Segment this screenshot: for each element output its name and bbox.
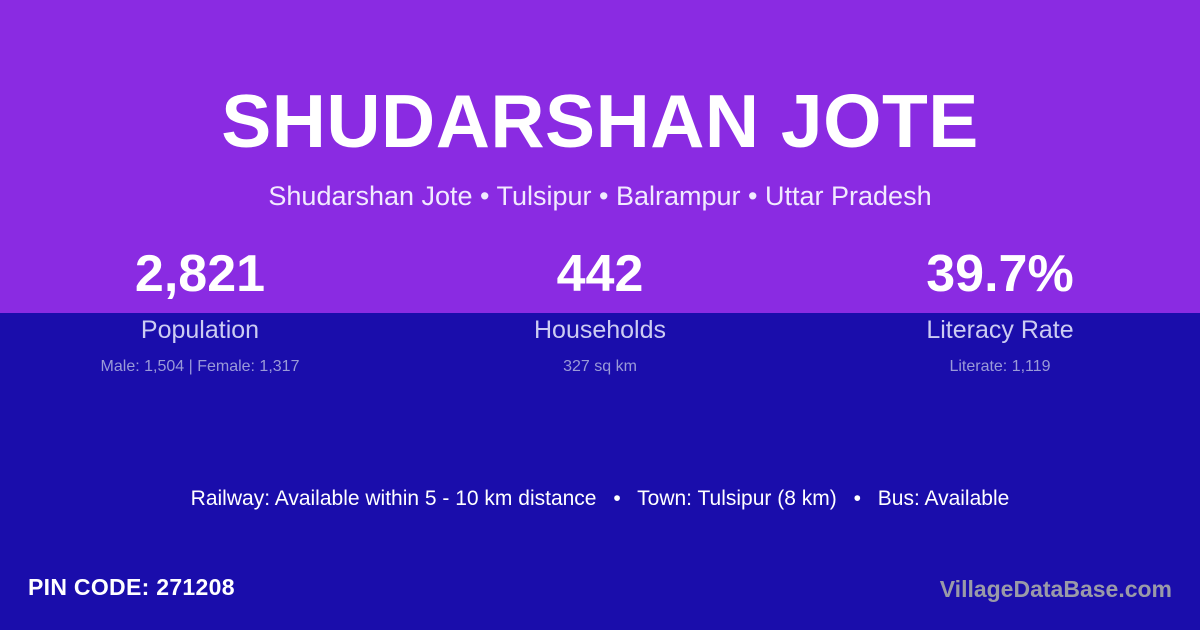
facility-railway: Railway: Available within 5 - 10 km dist… — [191, 487, 597, 510]
population-value: 2,821 — [0, 248, 400, 304]
literate-count: Literate: 1,119 — [800, 358, 1200, 376]
footer: PIN CODE: 271208 VillageDataBase.com — [0, 560, 1200, 630]
population-breakdown: Male: 1,504 | Female: 1,317 — [0, 358, 400, 376]
facility-separator: • — [602, 487, 631, 510]
breadcrumb: Shudarshan Jote • Tulsipur • Balrampur •… — [0, 182, 1200, 212]
households-area: 327 sq km — [400, 358, 800, 376]
stat-population: 2,821 Population Male: 1,504 | Female: 1… — [0, 248, 400, 375]
stats-row: 2,821 Population Male: 1,504 | Female: 1… — [0, 248, 1200, 375]
brand-watermark: VillageDataBase.com — [940, 576, 1172, 603]
facilities-row: Railway: Available within 5 - 10 km dist… — [0, 486, 1200, 511]
facility-separator: • — [843, 487, 872, 510]
households-value: 442 — [400, 248, 800, 304]
stat-households: 442 Households 327 sq km — [400, 248, 800, 375]
population-label: Population — [0, 317, 400, 345]
stat-literacy-rate: 39.7% Literacy Rate Literate: 1,119 — [800, 248, 1200, 375]
households-label: Households — [400, 317, 800, 345]
literacy-rate-label: Literacy Rate — [800, 317, 1200, 345]
facility-town: Town: Tulsipur (8 km) — [637, 487, 837, 510]
page-title: SHUDARSHAN JOTE — [0, 84, 1200, 159]
literacy-rate-value: 39.7% — [800, 248, 1200, 304]
village-info-card: SHUDARSHAN JOTE Shudarshan Jote • Tulsip… — [0, 0, 1200, 630]
facility-bus: Bus: Available — [878, 487, 1010, 510]
pin-code: PIN CODE: 271208 — [28, 574, 235, 601]
